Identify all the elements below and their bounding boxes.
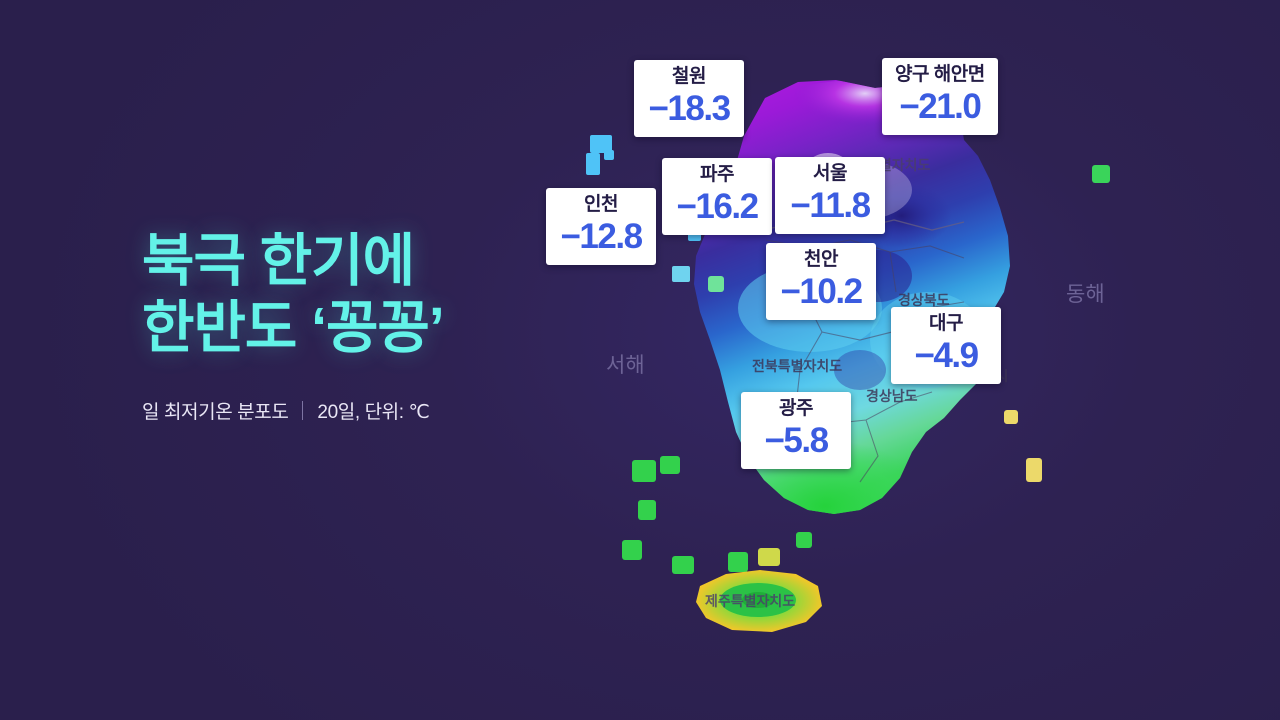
subtitle-divider [302,401,303,420]
callout-temp-value: −21.0 [895,87,985,126]
subtitle-row: 일 최저기온 분포도 20일, 단위: ℃ [142,397,562,424]
sea-label-west: 서해 [606,349,645,379]
province-label-gyeongnam: 경상남도 [866,386,918,406]
callout-daegu: 대구 −4.9 [891,307,1001,384]
callout-cheonan: 천안 −10.2 [766,243,876,320]
callout-temp-value: −10.2 [779,272,863,311]
headline-block: 북극 한기에 한반도 ‘꽁꽁’ 일 최저기온 분포도 20일, 단위: ℃ [142,228,562,424]
callout-city-label: 대구 [904,314,988,335]
callout-seoul: 서울 −11.8 [775,157,885,234]
east-sea-islands [1004,165,1110,482]
callout-city-label: 철원 [647,67,731,88]
callout-paju: 파주 −16.2 [662,158,772,235]
callout-incheon: 인천 −12.8 [546,188,656,265]
callout-temp-value: −16.2 [675,187,759,226]
subtitle-right: 20일, 단위: ℃ [317,397,429,424]
subtitle-left: 일 최저기온 분포도 [142,397,288,424]
callout-yanggu: 양구 해안면 −21.0 [882,58,998,135]
callout-cheorwon: 철원 −18.3 [634,60,744,137]
headline-line-2: 한반도 ‘꽁꽁’ [142,295,562,362]
callout-temp-value: −5.8 [754,421,838,460]
callout-city-label: 서울 [788,164,872,185]
province-label-jeonbuk: 전북특별자치도 [752,356,842,376]
callout-temp-value: −11.8 [788,186,872,225]
callout-city-label: 파주 [675,165,759,186]
callout-city-label: 인천 [559,195,643,216]
headline-line-1: 북극 한기에 [142,228,562,295]
callout-city-label: 양구 해안면 [895,65,985,86]
province-label-jeju: 제주특별자치도 [705,591,795,611]
callout-temp-value: −4.9 [904,336,988,375]
callout-temp-value: −18.3 [647,89,731,128]
callout-gwangju: 광주 −5.8 [741,392,851,469]
callout-city-label: 천안 [779,250,863,271]
callout-city-label: 광주 [754,399,838,420]
sea-label-east: 동해 [1066,278,1105,308]
callout-temp-value: −12.8 [559,217,643,256]
broadcast-graphic: 서해 동해 특별자치도 전북특별자치도 경상북도 경상남도 울산광역시 제주특별… [0,0,1280,720]
